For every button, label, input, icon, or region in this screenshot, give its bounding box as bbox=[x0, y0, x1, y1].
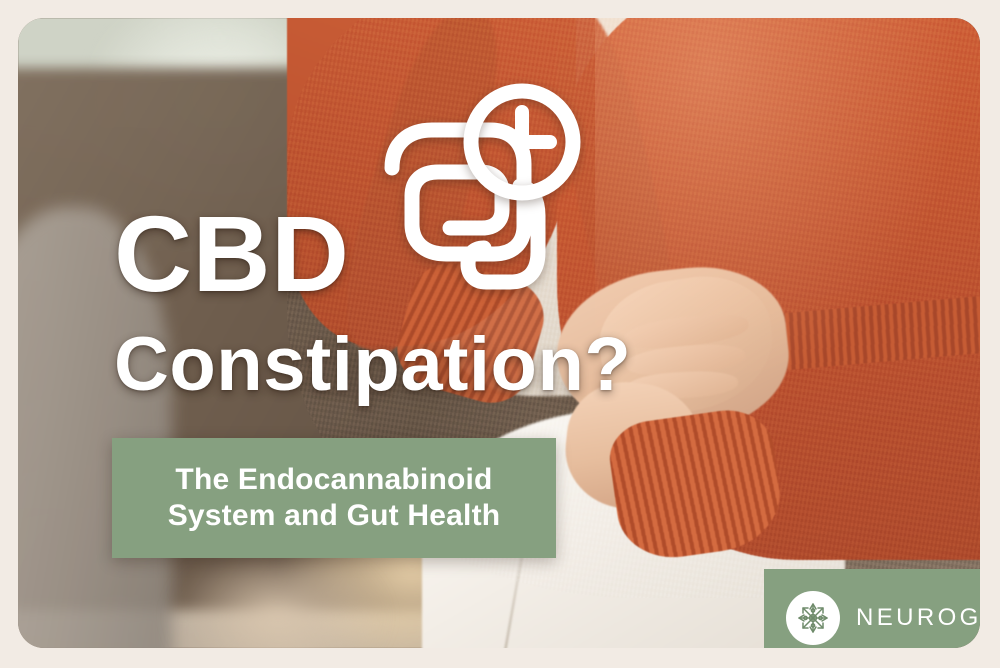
hero-photo-card: CBD Constipation? The Endocannabinoid Sy… bbox=[18, 18, 980, 648]
headline-line-2: Constipation? bbox=[114, 322, 634, 408]
subtitle-box: The Endocannabinoid System and Gut Healt… bbox=[112, 438, 556, 558]
neurogan-wordmark: NEUROGAN bbox=[856, 604, 980, 632]
headline: CBD Constipation? bbox=[114, 202, 634, 408]
banner-canvas: CBD Constipation? The Endocannabinoid Sy… bbox=[0, 0, 1000, 668]
neurogan-ornament-icon bbox=[786, 591, 840, 645]
subtitle-line-2: System and Gut Health bbox=[168, 498, 501, 534]
headline-line-1: CBD bbox=[114, 202, 634, 306]
subtitle-text: The Endocannabinoid System and Gut Healt… bbox=[154, 462, 515, 534]
logo-bar[interactable]: NEUROGAN bbox=[764, 569, 980, 648]
subtitle-line-1: The Endocannabinoid bbox=[168, 462, 501, 498]
